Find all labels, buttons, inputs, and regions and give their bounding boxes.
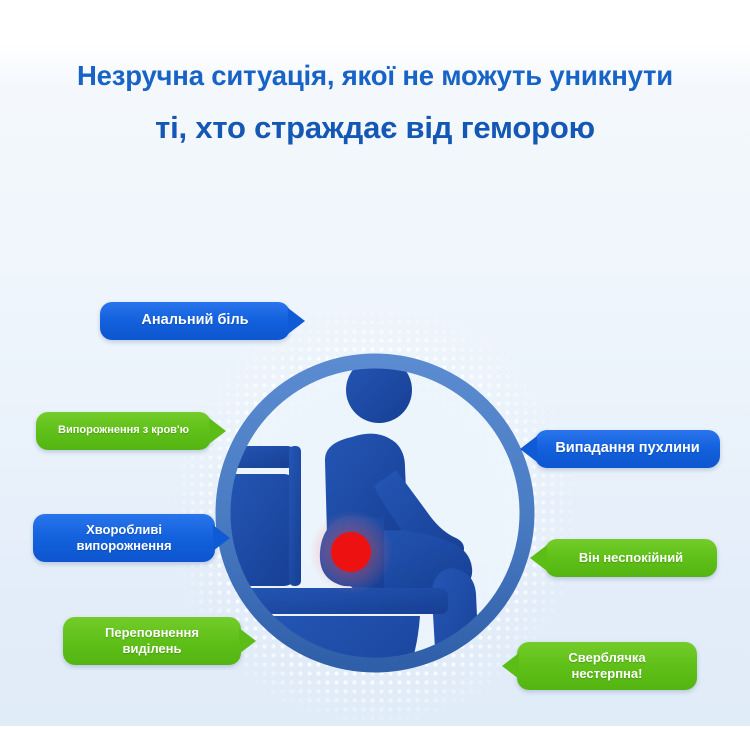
callout-tail-icon	[530, 545, 547, 571]
center-graphic	[200, 320, 550, 720]
symptom-diagram: Анальний біль Випорожнення з кров'ю Хвор…	[0, 0, 750, 726]
label-restless-line-1: Він неспокійний	[579, 550, 683, 566]
label-prolapse-line-1: Випадання пухлини	[555, 440, 699, 458]
label-overflow-line-1: Переповнення	[105, 625, 199, 641]
label-anal-pain-line-1: Анальний біль	[141, 312, 248, 330]
label-overflow-discharge[interactable]: Переповнення виділень	[63, 617, 241, 665]
red-pain-dot	[309, 510, 393, 594]
label-bloody-stool[interactable]: Випорожнення з кров'ю	[36, 412, 211, 450]
callout-tail-icon	[502, 653, 519, 679]
callout-tail-icon	[520, 436, 537, 462]
label-painful-stool[interactable]: Хворобливі випорожнення	[33, 514, 215, 562]
person-on-toilet-icon	[200, 320, 550, 720]
label-itching-line-2: нестерпна!	[572, 666, 643, 682]
label-itching-line-1: Сверблячка	[568, 650, 645, 666]
label-painful-stool-line-1: Хворобливі	[86, 522, 162, 538]
label-overflow-line-2: виділень	[122, 641, 181, 657]
callout-tail-icon	[288, 308, 305, 334]
label-prolapse[interactable]: Випадання пухлини	[535, 430, 720, 468]
callout-tail-icon	[209, 418, 226, 444]
label-anal-pain[interactable]: Анальний біль	[100, 302, 290, 340]
label-bloody-stool-line-1: Випорожнення з кров'ю	[58, 424, 189, 437]
callout-tail-icon	[213, 525, 230, 551]
callout-tail-icon	[239, 628, 256, 654]
label-painful-stool-line-2: випорожнення	[76, 538, 171, 554]
label-itching[interactable]: Сверблячка нестерпна!	[517, 642, 697, 690]
label-restless[interactable]: Він неспокійний	[545, 539, 717, 577]
